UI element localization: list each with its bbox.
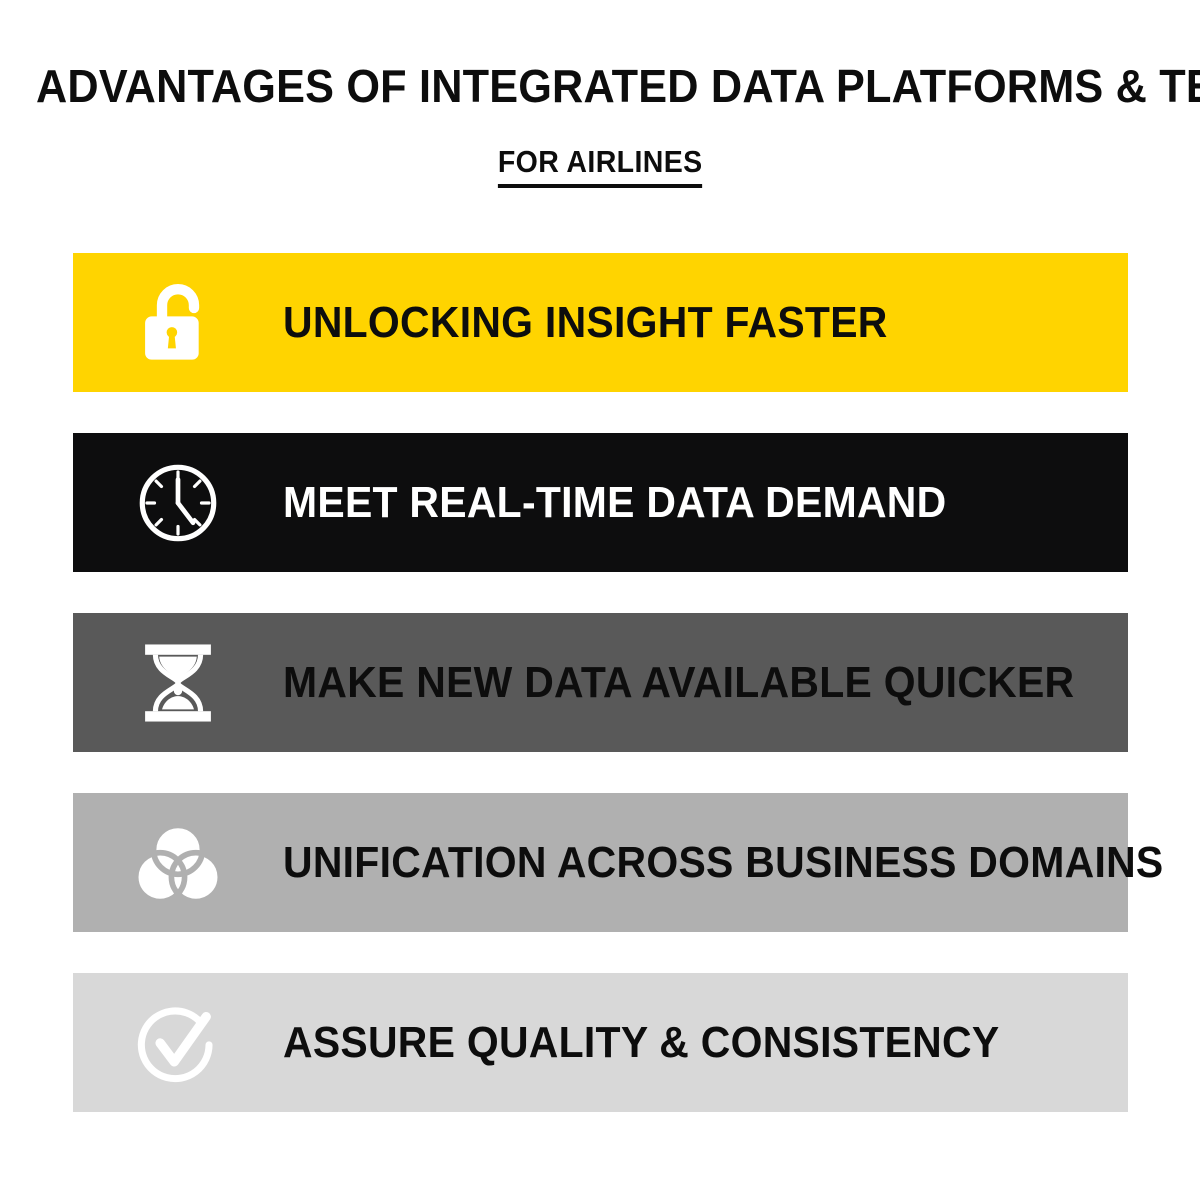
list-item[interactable]: UNIFICATION ACROSS BUSINESS DOMAINS <box>73 793 1128 932</box>
list-item-label: UNIFICATION ACROSS BUSINESS DOMAINS <box>283 841 1164 885</box>
unlocked-padlock-icon <box>129 274 227 372</box>
clock-icon <box>129 454 227 552</box>
list-item-label: MEET REAL-TIME DATA DEMAND <box>283 481 946 525</box>
page-subtitle: FOR AIRLINES <box>498 144 703 188</box>
advantage-bar-list: UNLOCKING INSIGHT FASTER <box>73 253 1128 1112</box>
hourglass-icon <box>129 634 227 732</box>
list-item[interactable]: MEET REAL-TIME DATA DEMAND <box>73 433 1128 572</box>
check-circle-icon <box>129 994 227 1092</box>
list-item-label: ASSURE QUALITY & CONSISTENCY <box>283 1021 999 1065</box>
list-item[interactable]: UNLOCKING INSIGHT FASTER <box>73 253 1128 392</box>
title-block: ADVANTAGES OF INTEGRATED DATA PLATFORMS … <box>0 0 1200 188</box>
list-item-label: MAKE NEW DATA AVAILABLE QUICKER <box>283 661 1074 705</box>
infographic-poster: ADVANTAGES OF INTEGRATED DATA PLATFORMS … <box>0 0 1200 1200</box>
list-item-label: UNLOCKING INSIGHT FASTER <box>283 301 888 345</box>
list-item[interactable]: ASSURE QUALITY & CONSISTENCY <box>73 973 1128 1112</box>
subtitle-block: FOR AIRLINES <box>0 144 1200 188</box>
page-title: ADVANTAGES OF INTEGRATED DATA PLATFORMS … <box>36 62 1164 110</box>
venn-diagram-icon <box>129 814 227 912</box>
list-item[interactable]: MAKE NEW DATA AVAILABLE QUICKER <box>73 613 1128 752</box>
